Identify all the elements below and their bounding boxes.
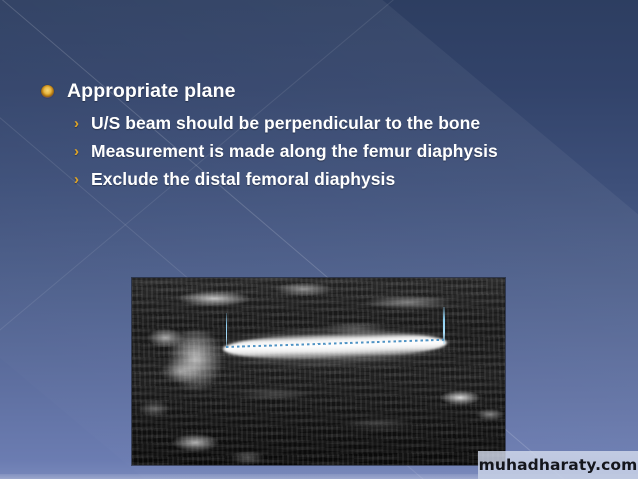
presentation-slide: Appropriate plane › U/S beam should be p…: [0, 0, 638, 479]
target-bullet-icon: [41, 85, 54, 98]
bullet-level1-label: Appropriate plane: [67, 80, 236, 102]
chevron-right-icon: ›: [74, 140, 91, 163]
watermark-label: muhadharaty.com: [479, 456, 638, 474]
bullet-level1-appropriate-plane: Appropriate plane: [41, 80, 236, 102]
bullet-level2-label: Measurement is made along the femur diap…: [91, 140, 498, 163]
bullet-level2-label: U/S beam should be perpendicular to the …: [91, 112, 480, 135]
bullet-level2-label: Exclude the distal femoral diaphysis: [91, 168, 395, 191]
watermark-banner: muhadharaty.com: [478, 451, 638, 479]
ultrasound-canvas: [132, 278, 505, 465]
bullet-sublist: › U/S beam should be perpendicular to th…: [74, 112, 498, 196]
chevron-right-icon: ›: [74, 112, 91, 135]
caliper-marker-left: [226, 313, 227, 349]
femur-length-ultrasound: [132, 278, 505, 465]
bullet-level2-item: › Exclude the distal femoral diaphysis: [74, 168, 498, 191]
bullet-level2-item: › U/S beam should be perpendicular to th…: [74, 112, 498, 135]
femur-proximal-end: [166, 330, 226, 394]
bullet-level2-item: › Measurement is made along the femur di…: [74, 140, 498, 163]
chevron-right-icon: ›: [74, 168, 91, 191]
